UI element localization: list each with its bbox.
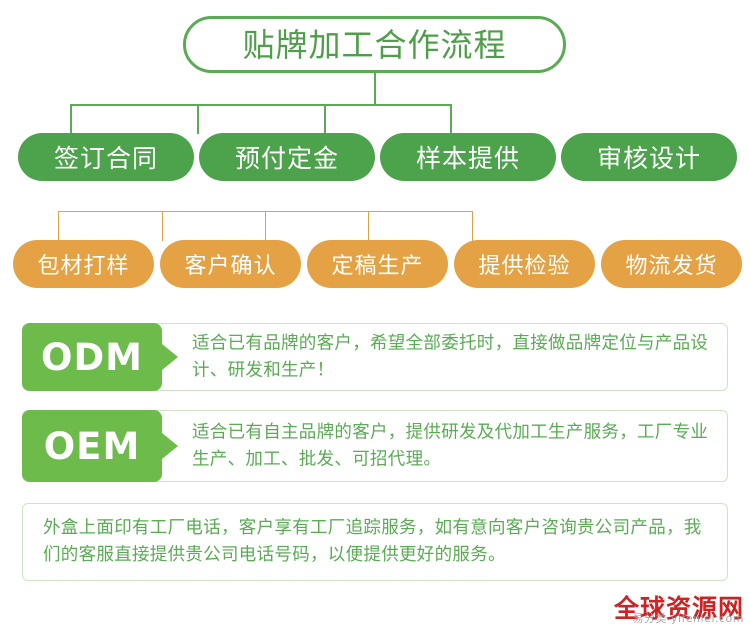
step-pill-green-2-label: 预付定金 <box>235 139 339 175</box>
connector-green-drop-3 <box>324 104 326 134</box>
mode-block-odm-description: 适合已有品牌的客户，希望全部委托时，直接做品牌定位与产品设计、研发和生产！ <box>192 330 712 383</box>
step-pill-orange-1[interactable]: 包材打样 <box>13 240 154 288</box>
step-pill-orange-5-label: 物流发货 <box>625 248 717 280</box>
page-title-text: 贴牌加工合作流程 <box>242 29 506 61</box>
step-pill-green-1-label: 签订合同 <box>54 139 158 175</box>
step-pill-orange-2[interactable]: 客户确认 <box>160 240 301 288</box>
connector-orange-drop-1 <box>58 211 59 241</box>
connector-orange-drop-3 <box>265 211 266 241</box>
mode-block-oem-label: OEM <box>22 410 162 482</box>
mode-block-odm-label-text: ODM <box>41 336 143 379</box>
step-pill-green-1[interactable]: 签订合同 <box>18 133 194 181</box>
step-pill-orange-3[interactable]: 定稿生产 <box>307 240 448 288</box>
mode-block-oem-description: 适合已有自主品牌的客户，提供研发及代加工生产服务，工厂专业生产、加工、批发、可招… <box>192 419 712 472</box>
step-pill-green-4[interactable]: 审核设计 <box>561 133 737 181</box>
step-pill-orange-1-label: 包材打样 <box>37 248 129 280</box>
connector-green-drop-4 <box>450 104 452 134</box>
note-box-text: 外盒上面印有工厂电话，客户享有工厂追踪服务，如有意向客户咨询贵公司产品，我们的客… <box>43 515 711 569</box>
page-title: 贴牌加工合作流程 <box>183 16 566 73</box>
note-box: 外盒上面印有工厂电话，客户享有工厂追踪服务，如有意向客户咨询贵公司产品，我们的客… <box>22 503 728 581</box>
connector-orange-drop-4 <box>368 211 369 241</box>
step-pill-green-2[interactable]: 预付定金 <box>199 133 375 181</box>
connector-green-drop-2 <box>197 104 199 134</box>
step-pill-green-3-label: 样本提供 <box>416 139 520 175</box>
step-pill-orange-3-label: 定稿生产 <box>331 248 423 280</box>
step-pill-orange-5[interactable]: 物流发货 <box>601 240 742 288</box>
watermark: 全球资源网 易分类 yifenlei.com <box>614 596 744 624</box>
connector-orange-drop-2 <box>162 211 163 241</box>
arrow-right-icon <box>162 433 178 459</box>
connector-green-bus <box>70 104 452 106</box>
step-pill-green-3[interactable]: 样本提供 <box>380 133 556 181</box>
flowchart-canvas: 贴牌加工合作流程 签订合同 预付定金 样本提供 审核设计 包材打样 客户确认 定… <box>0 0 750 628</box>
connector-orange-drop-5 <box>472 211 473 241</box>
connector-title-stem <box>374 73 376 105</box>
step-pill-green-4-label: 审核设计 <box>597 139 701 175</box>
step-pill-orange-4[interactable]: 提供检验 <box>454 240 595 288</box>
connector-green-drop-1 <box>70 104 72 134</box>
arrow-right-icon <box>162 344 178 370</box>
step-pill-orange-2-label: 客户确认 <box>184 248 276 280</box>
watermark-sub-text: 易分类 yifenlei.com <box>614 613 744 624</box>
step-pill-orange-4-label: 提供检验 <box>478 248 570 280</box>
mode-block-odm-label: ODM <box>22 323 162 391</box>
mode-block-oem: OEM 适合已有自主品牌的客户，提供研发及代加工生产服务，工厂专业生产、加工、批… <box>22 410 728 482</box>
mode-block-oem-label-text: OEM <box>44 425 141 468</box>
mode-block-odm: ODM 适合已有品牌的客户，希望全部委托时，直接做品牌定位与产品设计、研发和生产… <box>22 323 728 391</box>
